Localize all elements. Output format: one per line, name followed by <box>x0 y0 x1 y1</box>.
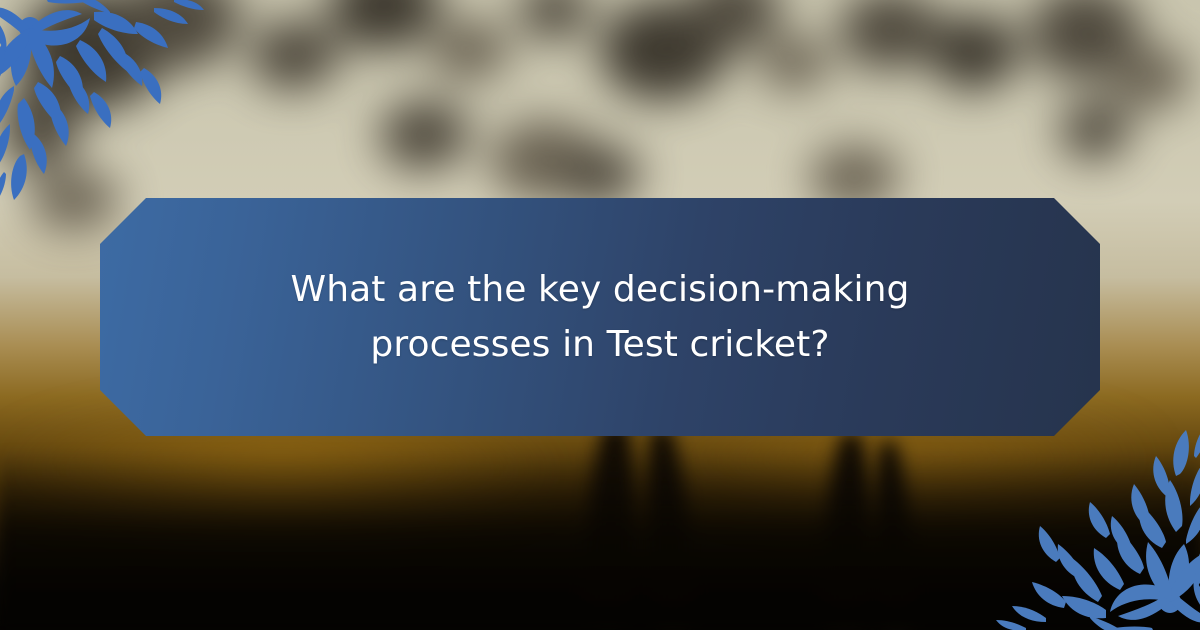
headline-banner: What are the key decision-making process… <box>100 198 1100 436</box>
social-card: What are the key decision-making process… <box>0 0 1200 630</box>
background-vignette <box>0 450 1200 630</box>
headline-text: What are the key decision-making process… <box>200 262 1000 372</box>
